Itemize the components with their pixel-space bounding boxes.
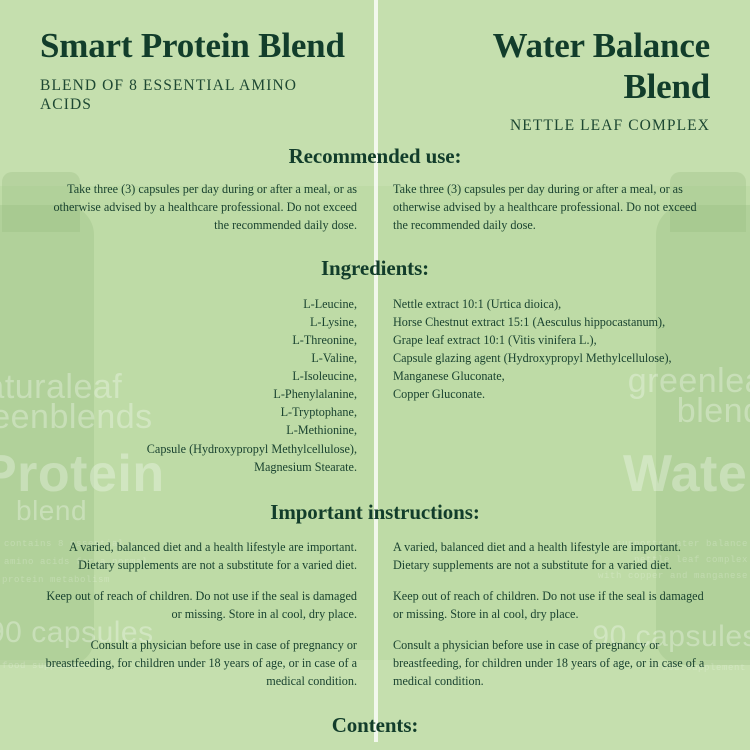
- ingredient-line: L-Leucine,: [40, 295, 357, 313]
- product-header-left: Smart Protein Blend BLEND OF 8 ESSENTIAL…: [0, 26, 375, 136]
- section-heading-recommended-use: Recommended use:: [0, 144, 750, 169]
- ingredients-right: Nettle extract 10:1 (Urtica dioica),Hors…: [375, 295, 750, 475]
- product-subtitle-right: NETTLE LEAF COMPLEX: [405, 116, 710, 136]
- ingredients-left: L-Leucine,L-Lysine,L-Threonine,L-Valine,…: [0, 295, 375, 475]
- supplement-label-sheet: naturaleaf greenblends Protein blend con…: [0, 0, 750, 750]
- ingredient-line: Grape leaf extract 10:1 (Vitis vinifera …: [393, 331, 710, 349]
- instruction-paragraph: Keep out of reach of children. Do not us…: [40, 587, 357, 623]
- recommended-use-columns: Take three (3) capsules per day during o…: [0, 180, 750, 234]
- ingredient-line: Magnesium Stearate.: [40, 458, 357, 476]
- ingredient-line: L-Isoleucine,: [40, 367, 357, 385]
- instruction-paragraph: A varied, balanced diet and a health lif…: [40, 538, 357, 574]
- ingredient-line: L-Threonine,: [40, 331, 357, 349]
- instructions-right: A varied, balanced diet and a health lif…: [375, 538, 750, 690]
- product-title-left: Smart Protein Blend: [40, 26, 345, 67]
- ingredient-line: Copper Gluconate.: [393, 385, 710, 403]
- ingredient-line: L-Valine,: [40, 349, 357, 367]
- ingredient-line: Capsule (Hydroxypropyl Methylcellulose),: [40, 440, 357, 458]
- ingredient-line: Horse Chestnut extract 15:1 (Aesculus hi…: [393, 313, 710, 331]
- product-subtitle-left: BLEND OF 8 ESSENTIAL AMINO ACIDS: [40, 76, 345, 116]
- instruction-paragraph: Consult a physician before use in case o…: [40, 636, 357, 690]
- ingredient-line: L-Lysine,: [40, 313, 357, 331]
- instruction-paragraph: Consult a physician before use in case o…: [393, 636, 710, 690]
- section-recommended-use: Recommended use: Take three (3) capsules…: [0, 144, 750, 234]
- ingredient-line: Manganese Gluconate,: [393, 367, 710, 385]
- ingredients-columns: L-Leucine,L-Lysine,L-Threonine,L-Valine,…: [0, 295, 750, 475]
- section-heading-contents: Contents:: [0, 713, 750, 738]
- section-ingredients: Ingredients: L-Leucine,L-Lysine,L-Threon…: [0, 256, 750, 475]
- product-header-right: Water Balance Blend NETTLE LEAF COMPLEX: [375, 26, 750, 136]
- ingredient-line: Capsule glazing agent (Hydroxypropyl Met…: [393, 349, 710, 367]
- ingredient-line: L-Tryptophane,: [40, 403, 357, 421]
- product-headers: Smart Protein Blend BLEND OF 8 ESSENTIAL…: [0, 0, 750, 136]
- instructions-columns: A varied, balanced diet and a health lif…: [0, 538, 750, 690]
- ingredient-line: L-Phenylalanine,: [40, 385, 357, 403]
- section-heading-ingredients: Ingredients:: [0, 256, 750, 281]
- instructions-left: A varied, balanced diet and a health lif…: [0, 538, 375, 690]
- label-content: Smart Protein Blend BLEND OF 8 ESSENTIAL…: [0, 0, 750, 750]
- section-heading-instructions: Important instructions:: [0, 500, 750, 525]
- recommended-use-right: Take three (3) capsules per day during o…: [375, 180, 750, 234]
- section-important-instructions: Important instructions: A varied, balanc…: [0, 500, 750, 690]
- instruction-paragraph: A varied, balanced diet and a health lif…: [393, 538, 710, 574]
- product-title-right: Water Balance Blend: [405, 26, 710, 107]
- recommended-use-left: Take three (3) capsules per day during o…: [0, 180, 375, 234]
- ingredient-line: L-Methionine,: [40, 421, 357, 439]
- section-contents: Contents: 90 capsules 90 capsules: [0, 713, 750, 750]
- ingredient-line: Nettle extract 10:1 (Urtica dioica),: [393, 295, 710, 313]
- instruction-paragraph: Keep out of reach of children. Do not us…: [393, 587, 710, 623]
